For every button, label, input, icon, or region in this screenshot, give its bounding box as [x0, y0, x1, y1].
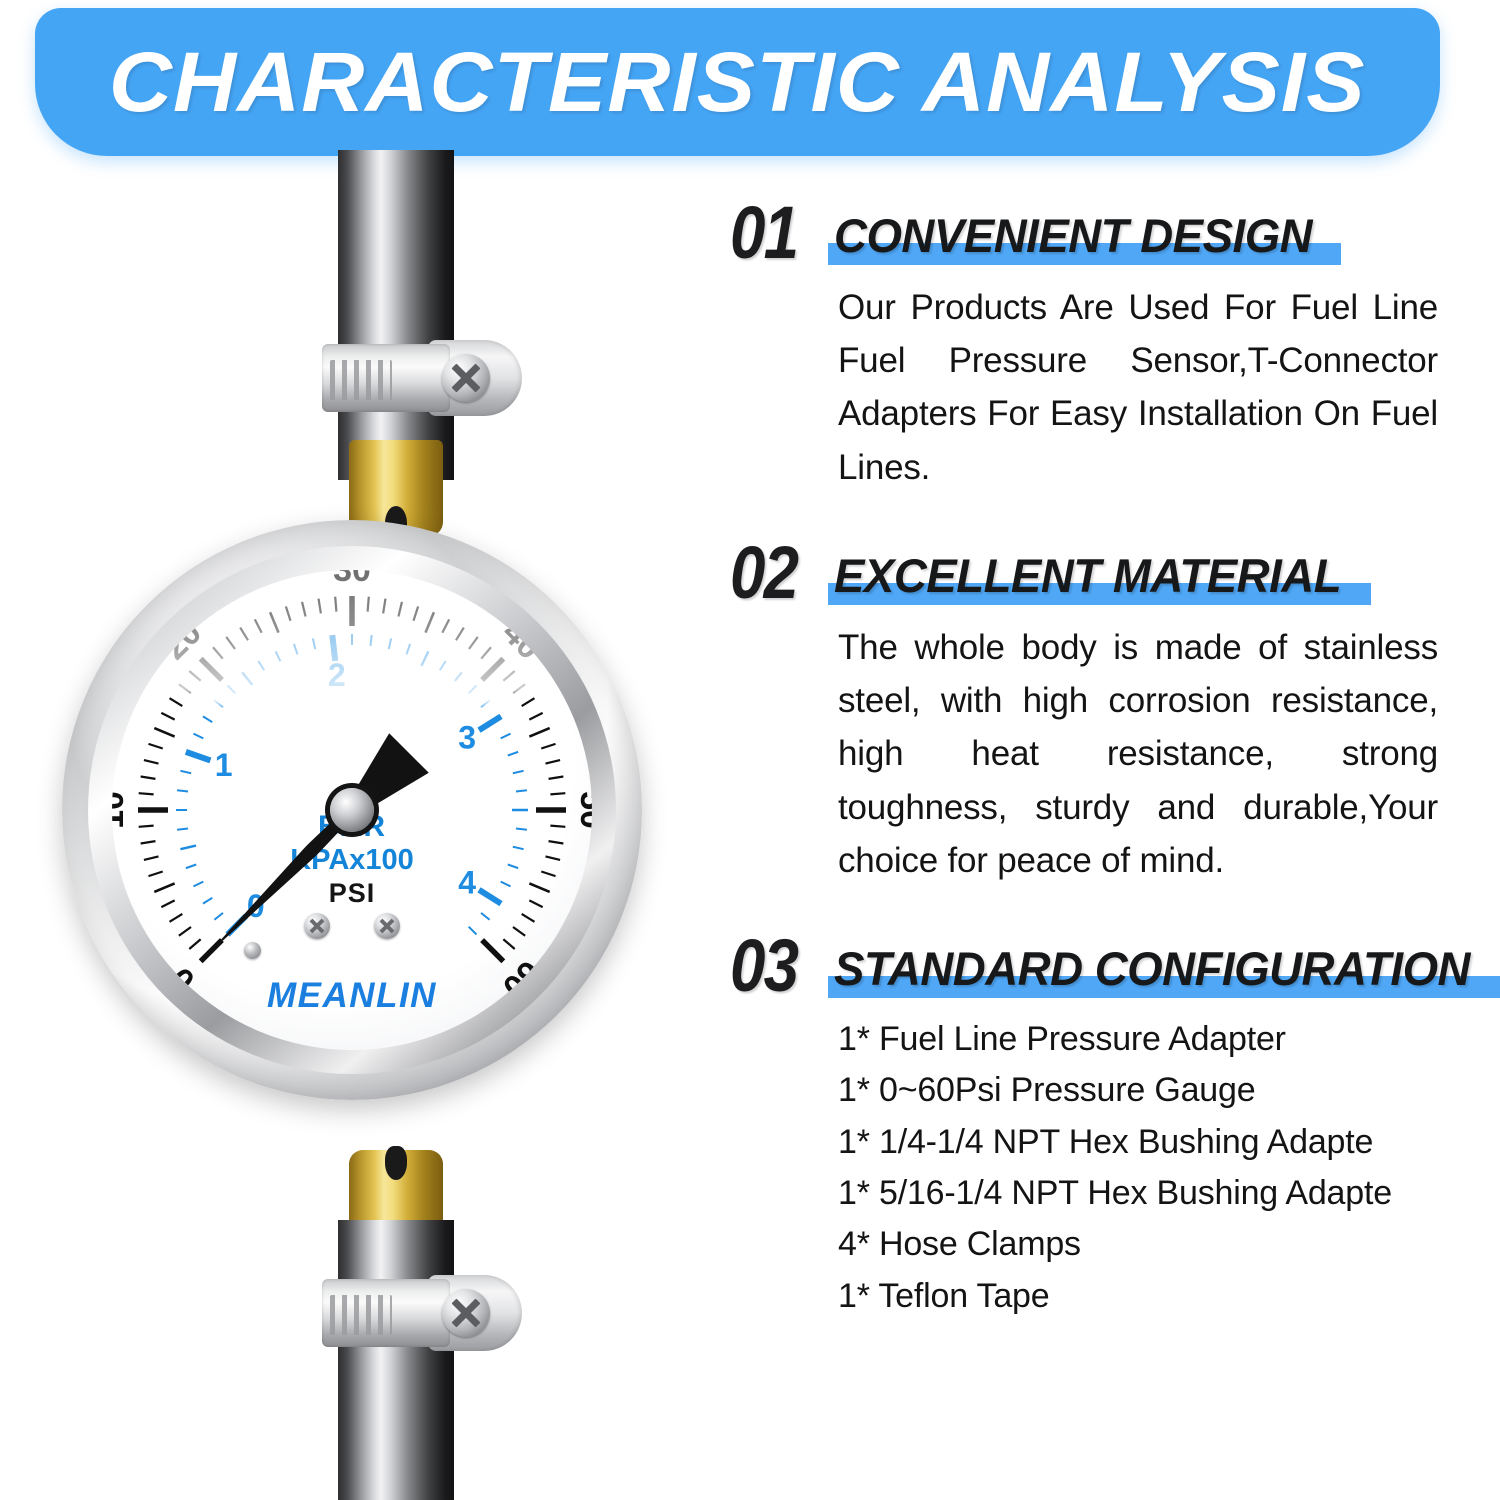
feature-title: CONVENIENT DESIGN [834, 208, 1312, 263]
feature-heading: 02 EXCELLENT MATERIAL [730, 540, 1490, 605]
svg-text:3: 3 [458, 720, 476, 756]
list-item: 1* Teflon Tape [838, 1271, 1490, 1322]
product-photo: 0102030405060 01234 BAR KPAx100 PSI MEAN… [0, 150, 720, 1500]
header-banner: CHARACTERISTIC ANALYSIS [35, 8, 1440, 156]
clamp-screw-icon [442, 1289, 490, 1337]
list-item: 1* 1/4-1/4 NPT Hex Bushing Adapte [838, 1117, 1490, 1168]
feature-title-wrap: STANDARD CONFIGURATION [828, 941, 1496, 998]
pressure-gauge: 0102030405060 01234 BAR KPAx100 PSI MEAN… [62, 520, 642, 1100]
dial-screw-left-icon [304, 913, 330, 939]
feature-body-text: The whole body is made of stainless stee… [838, 621, 1438, 887]
feature-title-wrap: EXCELLENT MATERIAL [828, 548, 1363, 605]
needle-stop-pin [244, 942, 261, 959]
hose-clamp-top [322, 340, 522, 416]
fuel-hose-bottom [338, 1220, 454, 1500]
gauge-dial-face: 0102030405060 01234 BAR KPAx100 PSI MEAN… [112, 570, 592, 1050]
feature-block-01: 01 CONVENIENT DESIGN Our Products Are Us… [730, 200, 1490, 494]
svg-text:10: 10 [112, 791, 131, 829]
feature-body-text: Our Products Are Used For Fuel Line Fuel… [838, 281, 1438, 494]
feature-heading: 01 CONVENIENT DESIGN [730, 200, 1490, 265]
feature-heading: 03 STANDARD CONFIGURATION [730, 933, 1490, 998]
dial-screw-right-icon [374, 913, 400, 939]
svg-text:0: 0 [247, 888, 265, 924]
svg-text:1: 1 [215, 747, 233, 783]
needle-hub [330, 788, 374, 832]
list-item: 4* Hose Clamps [838, 1219, 1490, 1270]
svg-text:50: 50 [573, 791, 592, 829]
feature-title: EXCELLENT MATERIAL [834, 548, 1341, 603]
clamp-band [322, 1279, 450, 1347]
feature-title: STANDARD CONFIGURATION [834, 941, 1470, 996]
feature-number: 02 [730, 540, 797, 605]
feature-block-02: 02 EXCELLENT MATERIAL The whole body is … [730, 540, 1490, 887]
fuel-hose-top [338, 150, 454, 480]
hose-clamp-bottom [322, 1275, 522, 1351]
list-item: 1* 5/16-1/4 NPT Hex Bushing Adapte [838, 1168, 1490, 1219]
clamp-band [322, 344, 450, 412]
page-title: CHARACTERISTIC ANALYSIS [109, 34, 1366, 131]
feature-number: 01 [730, 200, 797, 265]
list-item: 1* Fuel Line Pressure Adapter [838, 1014, 1490, 1065]
configuration-list: 1* Fuel Line Pressure Adapter1* 0~60Psi … [838, 1014, 1490, 1322]
feature-number: 03 [730, 933, 797, 998]
feature-list-column: 01 CONVENIENT DESIGN Our Products Are Us… [730, 200, 1490, 1338]
svg-text:30: 30 [333, 570, 371, 589]
feature-block-03: 03 STANDARD CONFIGURATION 1* Fuel Line P… [730, 933, 1490, 1322]
svg-text:2: 2 [328, 657, 346, 693]
gauge-brand-label: MEANLIN [112, 976, 592, 1016]
list-item: 1* 0~60Psi Pressure Gauge [838, 1065, 1490, 1116]
svg-text:4: 4 [458, 864, 476, 900]
clamp-slots [330, 360, 392, 400]
feature-title-wrap: CONVENIENT DESIGN [828, 208, 1333, 265]
clamp-screw-icon [442, 354, 490, 402]
clamp-slots [330, 1295, 392, 1335]
fitting-notch-icon [385, 1146, 407, 1180]
